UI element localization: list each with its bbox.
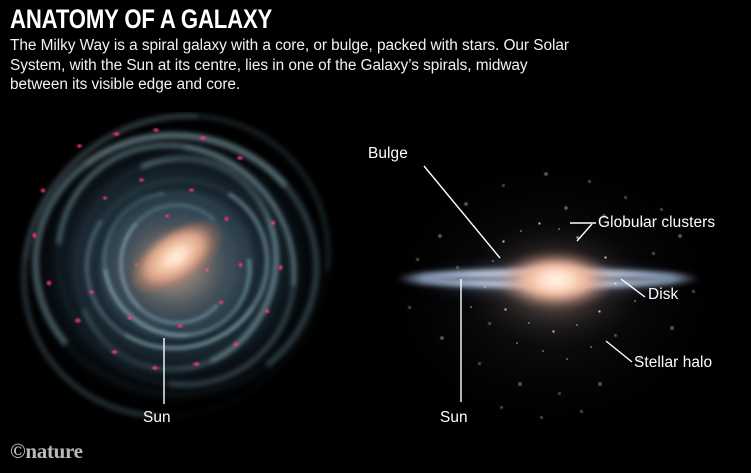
label-sun-left: Sun	[143, 410, 171, 426]
label-bulge: Bulge	[368, 146, 408, 162]
label-disk: Disk	[648, 287, 678, 303]
infographic-root: ANATOMY OF A GALAXY The Milky Way is a s…	[0, 0, 751, 473]
leader-line-bulge	[424, 166, 500, 258]
page-title: ANATOMY OF A GALAXY	[10, 4, 272, 34]
label-sun-right: Sun	[440, 410, 468, 426]
leader-lines	[0, 110, 751, 473]
nature-logo: ©nature	[10, 441, 83, 462]
label-globular-clusters: Globular clusters	[598, 215, 715, 231]
leader-line-disk	[621, 279, 645, 297]
leader-line-globular	[577, 224, 592, 241]
page-subtitle: The Milky Way is a spiral galaxy with a …	[10, 36, 580, 95]
label-stellar-halo: Stellar halo	[634, 355, 712, 371]
leader-line-stellar-halo	[606, 341, 632, 362]
illustration-stage	[0, 110, 751, 473]
header: ANATOMY OF A GALAXY The Milky Way is a s…	[0, 0, 751, 112]
